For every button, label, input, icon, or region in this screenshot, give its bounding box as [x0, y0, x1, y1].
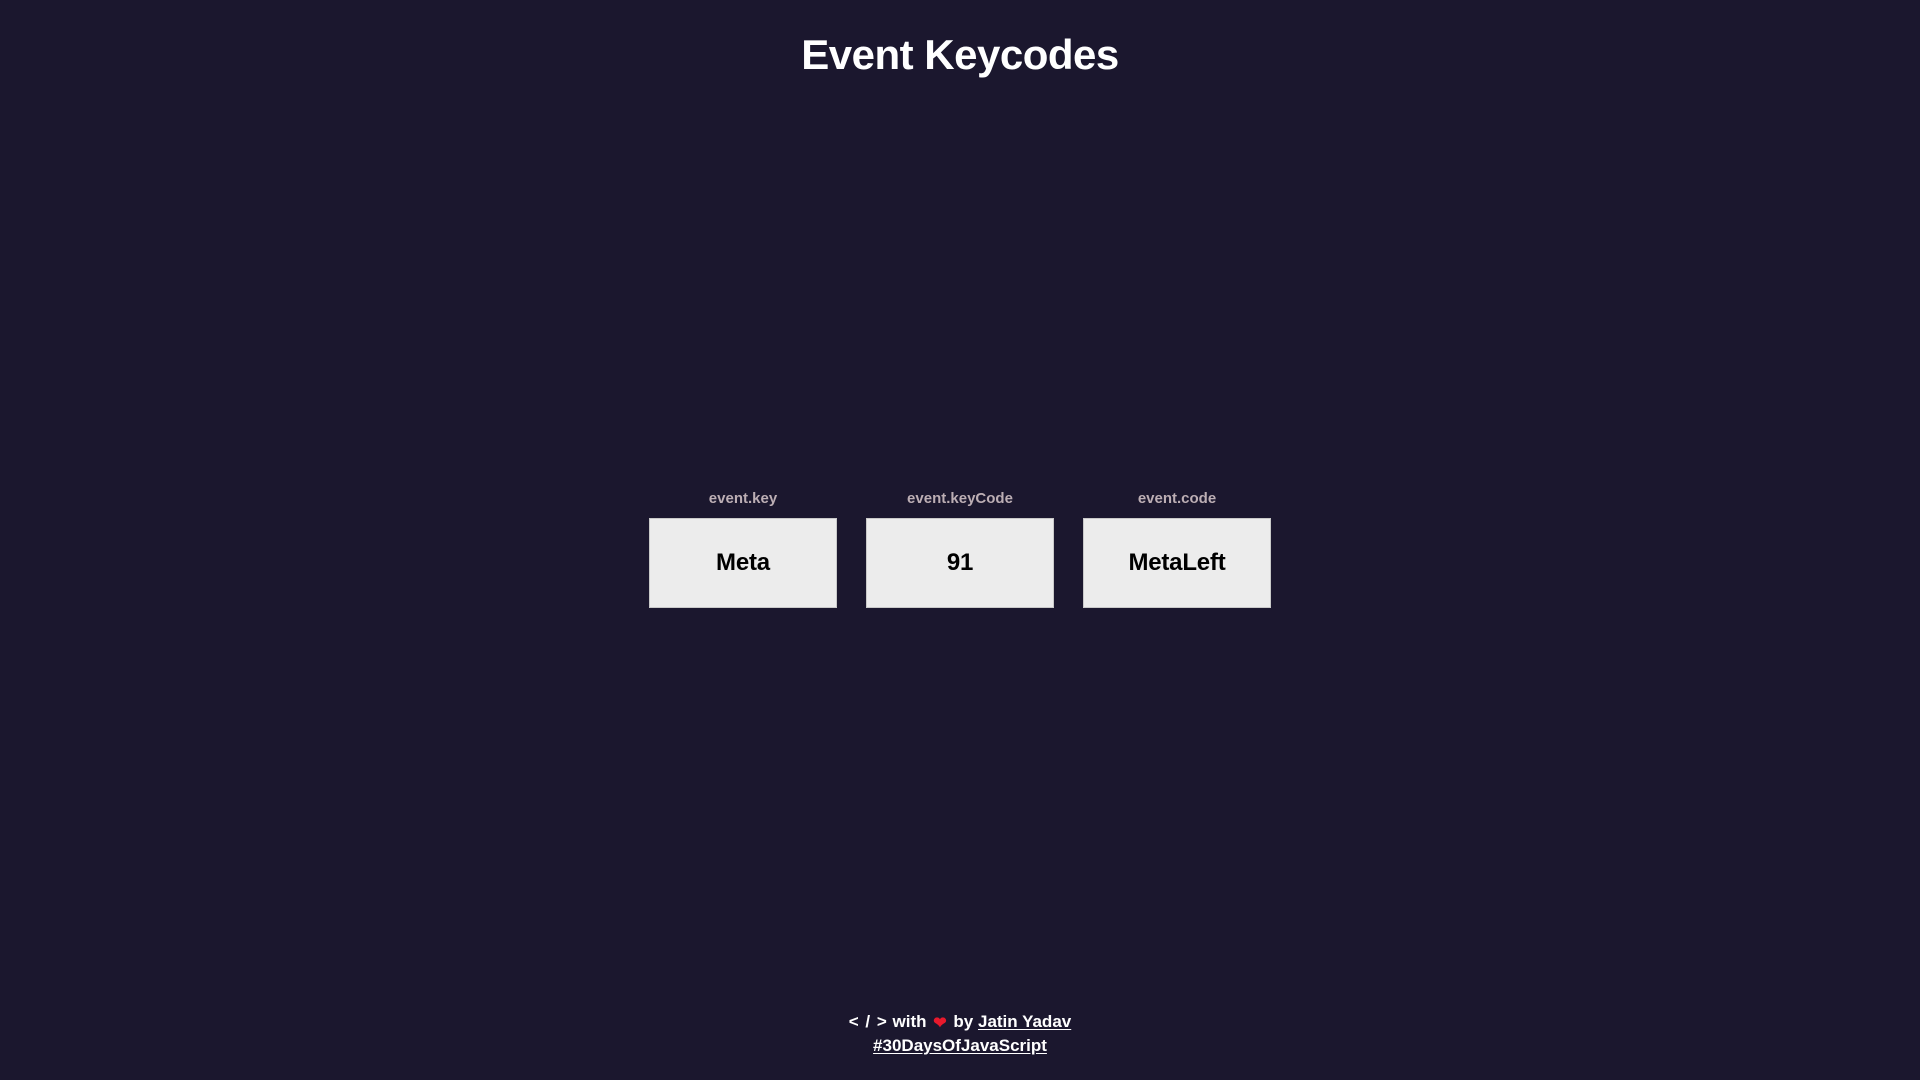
key-card-label: event.keyCode: [907, 490, 1013, 507]
footer-credit-line: < / > with ❤ by Jatin Yadav: [0, 1011, 1920, 1035]
author-link[interactable]: Jatin Yadav: [978, 1012, 1071, 1031]
footer-hashtag-line: #30DaysOfJavaScript: [0, 1035, 1920, 1058]
key-card-label: event.code: [1138, 490, 1216, 507]
key-card-box: Meta: [649, 518, 837, 608]
hashtag-link[interactable]: #30DaysOfJavaScript: [873, 1036, 1047, 1055]
key-cards-row: event.key Meta event.keyCode 91 event.co…: [649, 490, 1271, 608]
key-result-area: event.key Meta event.keyCode 91 event.co…: [0, 0, 1920, 1080]
key-card-event-keycode: event.keyCode 91: [866, 490, 1054, 608]
code-brackets-icon: < / >: [849, 1012, 888, 1031]
key-card-event-code: event.code MetaLeft: [1083, 490, 1271, 608]
footer: < / > with ❤ by Jatin Yadav #30DaysOfJav…: [0, 1011, 1920, 1058]
key-card-box: MetaLeft: [1083, 518, 1271, 608]
footer-by-word: by: [953, 1012, 973, 1031]
key-card-value: 91: [947, 549, 973, 577]
key-card-label: event.key: [709, 490, 777, 507]
key-card-value: MetaLeft: [1128, 549, 1225, 577]
heart-icon: ❤: [933, 1015, 946, 1032]
footer-with-word: with: [893, 1012, 927, 1031]
key-card-value: Meta: [716, 549, 770, 577]
key-card-box: 91: [866, 518, 1054, 608]
key-card-event-key: event.key Meta: [649, 490, 837, 608]
